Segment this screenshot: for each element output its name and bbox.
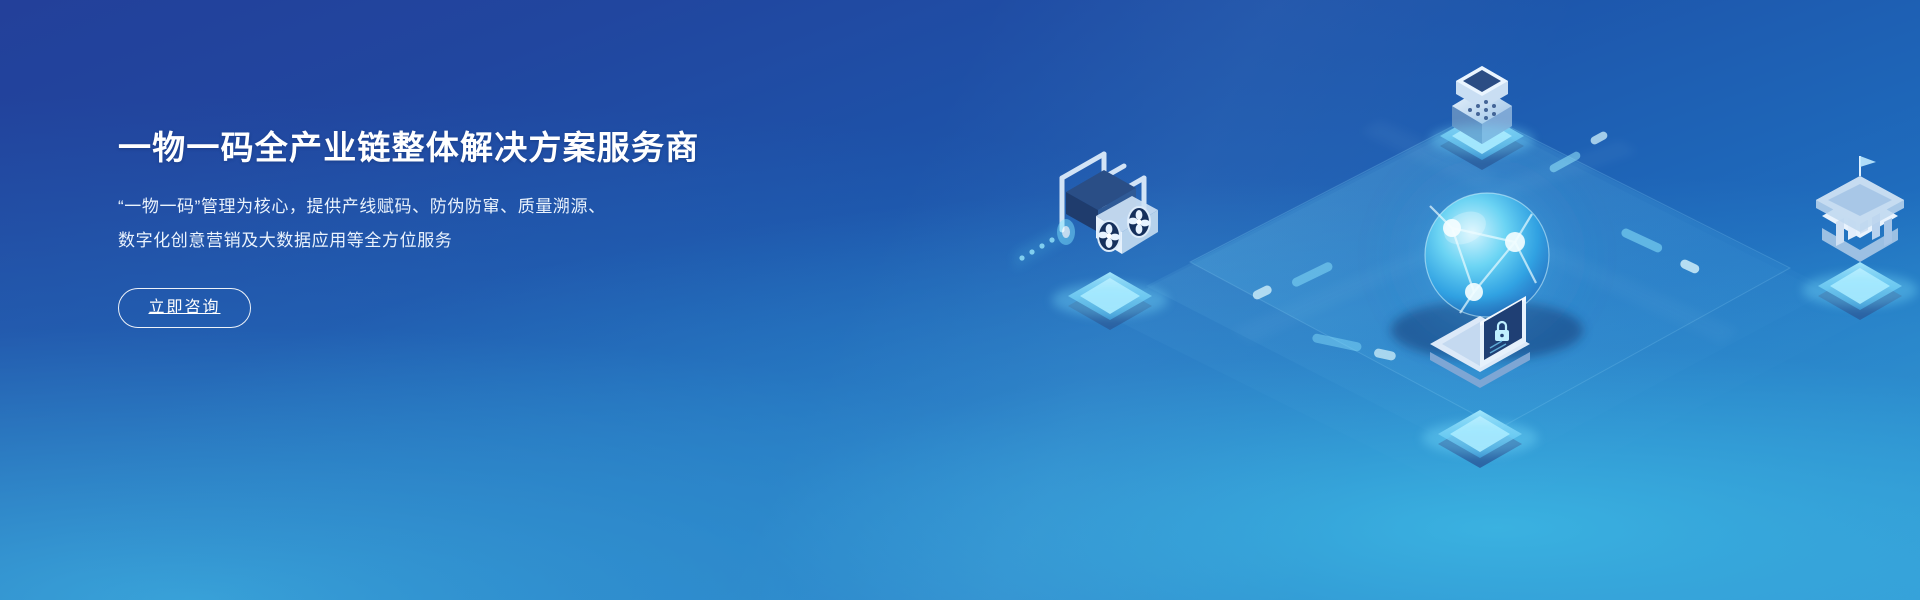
page-title: 一物一码全产业链整体解决方案服务商	[118, 128, 818, 168]
hero-copy-block: 一物一码全产业链整体解决方案服务商 “一物一码”管理为核心，提供产线赋码、防伪防…	[118, 128, 818, 328]
isometric-iot-network-illustration	[860, 0, 1920, 600]
hero-banner: 一物一码全产业链整体解决方案服务商 “一物一码”管理为核心，提供产线赋码、防伪防…	[0, 0, 1920, 600]
hero-subtitle-line-2: 数字化创意营销及大数据应用等全方位服务	[118, 224, 818, 258]
hero-subtitle-line-1: “一物一码”管理为核心，提供产线赋码、防伪防窜、质量溯源、	[118, 190, 818, 224]
consult-now-button[interactable]: 立即咨询	[118, 288, 251, 328]
cta-container: 立即咨询	[118, 288, 818, 328]
